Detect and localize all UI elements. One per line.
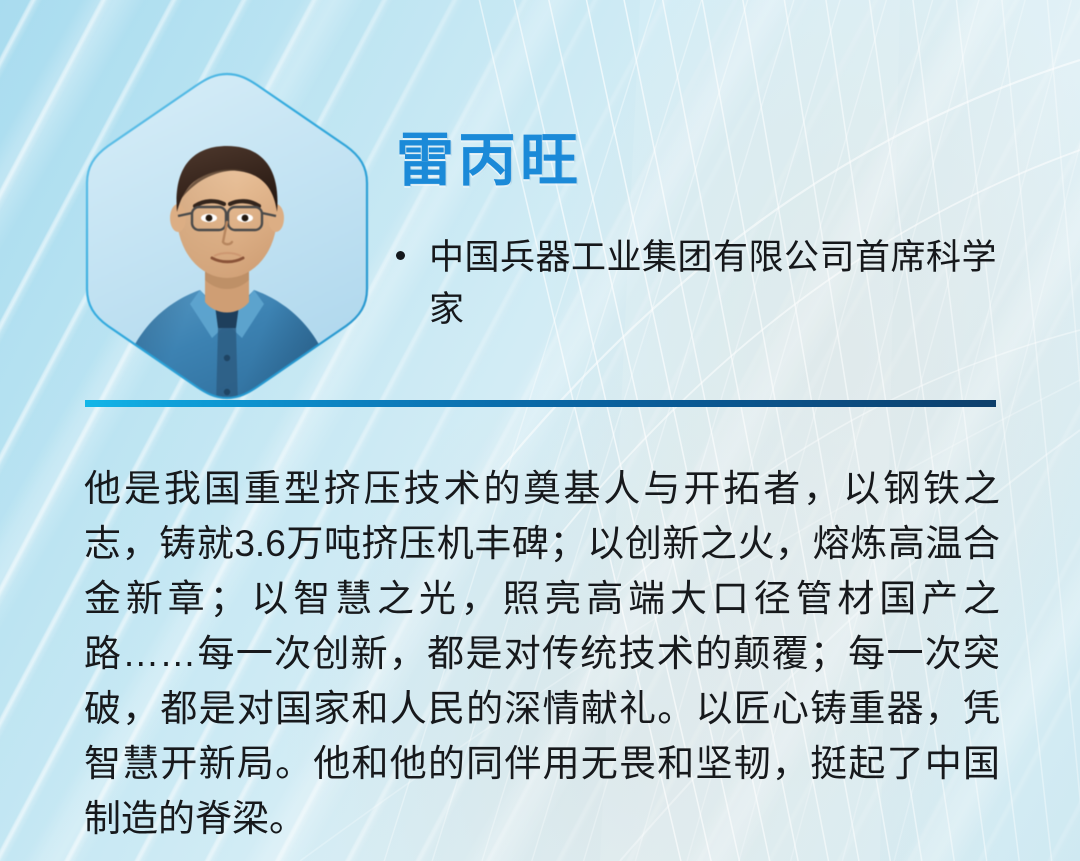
- bullet-point-icon: [396, 251, 405, 260]
- speaker-title: 中国兵器工业集团有限公司首席科学家: [429, 232, 1008, 336]
- portrait: [78, 66, 376, 406]
- section-divider: [85, 400, 996, 407]
- speaker-title-row: 中国兵器工业集团有限公司首席科学家: [396, 232, 1008, 336]
- portrait-photo: [87, 74, 367, 406]
- citation-paragraph: 他是我国重型挤压技术的奠基人与开拓者，以钢铁之志，铸就3.6万吨挤压机丰碑；以创…: [84, 461, 1000, 846]
- speaker-name: 雷丙旺: [396, 128, 582, 194]
- speaker-profile-card: 雷丙旺 中国兵器工业集团有限公司首席科学家 他是我国重型挤压技术的奠基人与开拓者…: [0, 0, 1080, 861]
- portrait-hexagon-frame: [78, 66, 376, 406]
